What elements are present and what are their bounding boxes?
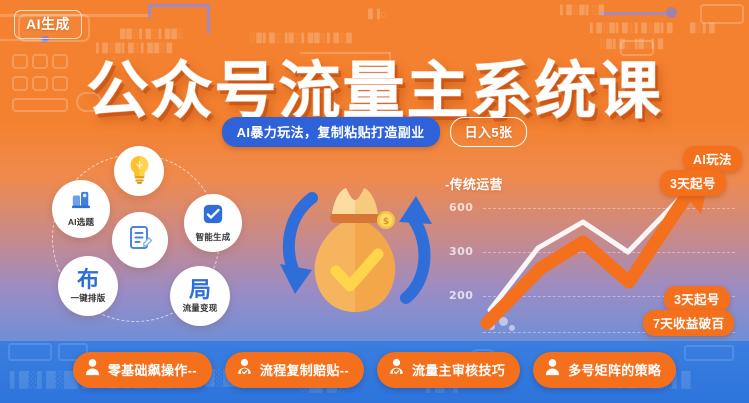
workflow-node-idea [114, 146, 164, 196]
feature-pill-audit-tips[interactable]: 流量主审核技巧 [377, 352, 520, 388]
ai-generated-badge: AI生成 [14, 10, 82, 39]
circuit-dot [666, 7, 677, 18]
circuit-line [600, 12, 670, 15]
circuit-block [32, 54, 48, 69]
feature-pill-label: 多号矩阵的策略 [568, 360, 661, 379]
feature-pill-label: 流程复制赔贴-- [260, 360, 349, 379]
circular-refresh-arrows-icon: $ [268, 176, 443, 326]
money-bag-illustration: $ [268, 176, 443, 326]
workflow-node-glyph: 局 [189, 279, 211, 301]
subtitle-row: AI暴力玩法，复制粘贴打造副业 日入5张 [222, 117, 528, 147]
subtitle-secondary-pill: 日入5张 [450, 117, 528, 147]
circuit-block [12, 98, 68, 112]
person-check-icon [388, 358, 405, 381]
svg-text:$: $ [383, 217, 389, 227]
workflow-node-glyph: 布 [77, 269, 99, 291]
workflow-node-smart-generate: 智能生成 [184, 194, 242, 252]
chart-callout-3day-top: 3天起号 [660, 170, 726, 196]
money-bag-check-icon: $ [315, 188, 396, 312]
circuit-block [12, 54, 28, 69]
workflow-node-ai-topic: AI选题 [52, 180, 110, 238]
feature-pill-row: 零基础飙操作-- 流程复制赔贴-- [0, 352, 749, 388]
feature-pill-label: 零基础飙操作-- [108, 360, 197, 379]
workflow-node-label: 智能生成 [196, 231, 231, 243]
workflow-node-document [112, 212, 168, 268]
document-edit-icon [125, 223, 155, 258]
ai-topic-icon [70, 190, 92, 215]
feature-pill-multi-account[interactable]: 多号矩阵的策略 [533, 352, 676, 388]
person-icon [84, 358, 101, 381]
feature-pill-label: 流量主审核技巧 [412, 360, 505, 379]
circuit-block [12, 76, 28, 91]
circuit-block [52, 76, 68, 91]
workflow-node-layout: 布 一键排版 [58, 256, 118, 316]
feature-pill-zero-basis[interactable]: 零基础飙操作-- [73, 352, 212, 388]
workflow-node-label: 一键排版 [71, 292, 106, 304]
circuit-block [52, 54, 68, 69]
lightbulb-icon [126, 154, 153, 189]
feature-pill-copy-process[interactable]: 流程复制赔贴-- [225, 352, 364, 388]
workflow-node-label: AI选题 [68, 216, 94, 228]
chart-callout-ai-method: AI玩法 [683, 146, 742, 172]
subtitle-primary-pill: AI暴力玩法，复制粘贴打造副业 [222, 117, 440, 147]
smart-generate-icon [202, 203, 224, 230]
workflow-node-monetize: 局 流量变现 [170, 266, 230, 326]
chart-callout-3day-bottom: 3天起号 [664, 286, 730, 312]
chart-callout-7day-income: 7天收益破百 [643, 310, 734, 336]
circuit-line [207, 4, 210, 34]
circuit-line [0, 39, 42, 41]
workflow-diagram: AI选题 智能生成 [30, 146, 275, 331]
promo-poster: ██░▌█░▌██░ ▌█░█▌█░▌██░█ ▉▐○ ░█▌█░▐█░▌██░… [0, 0, 749, 403]
person-icon [544, 358, 561, 381]
feature-band: ▌█░▌█░█▌█░ █░▌█░▐█░ ▌█░█▌█ ░█▌█░ ▌█░▌ █░… [0, 341, 749, 403]
workflow-node-label: 流量变现 [183, 302, 218, 314]
circuit-line [148, 4, 210, 7]
circuit-node [148, 4, 151, 18]
circuit-block [32, 76, 48, 91]
circuit-block [700, 4, 744, 24]
person-check-icon [236, 358, 253, 381]
